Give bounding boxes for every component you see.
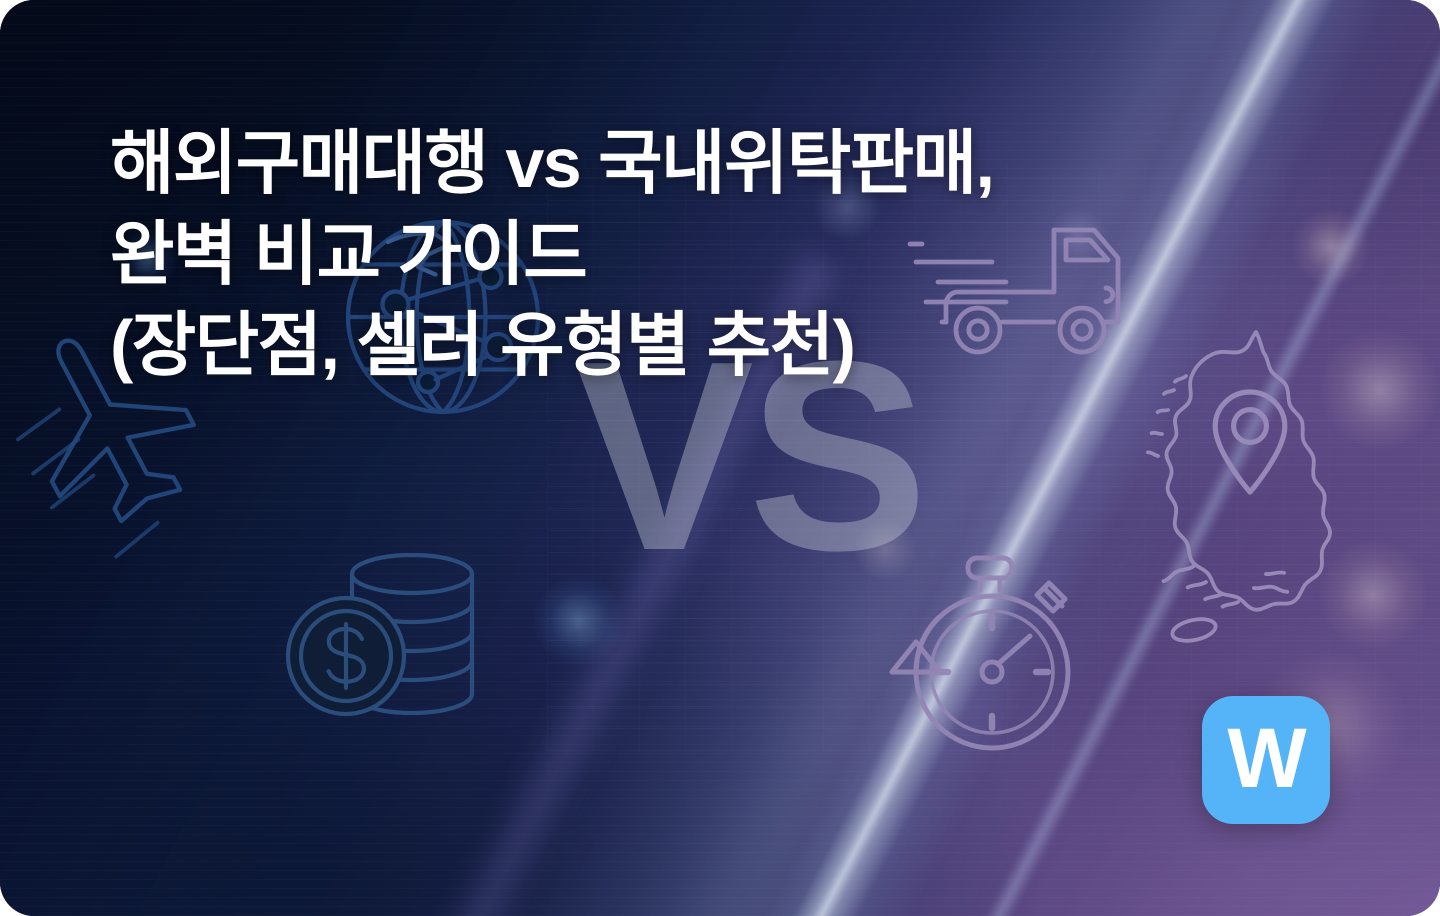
brand-logo: W [1202,696,1330,824]
page-title: 해외구매대행 vs 국내위탁판매, 완벽 비교 가이드 (장단점, 셀러 유형별… [110,118,1300,391]
thumbnail-card: VS [0,0,1440,916]
brand-logo-letter: W [1227,716,1304,800]
